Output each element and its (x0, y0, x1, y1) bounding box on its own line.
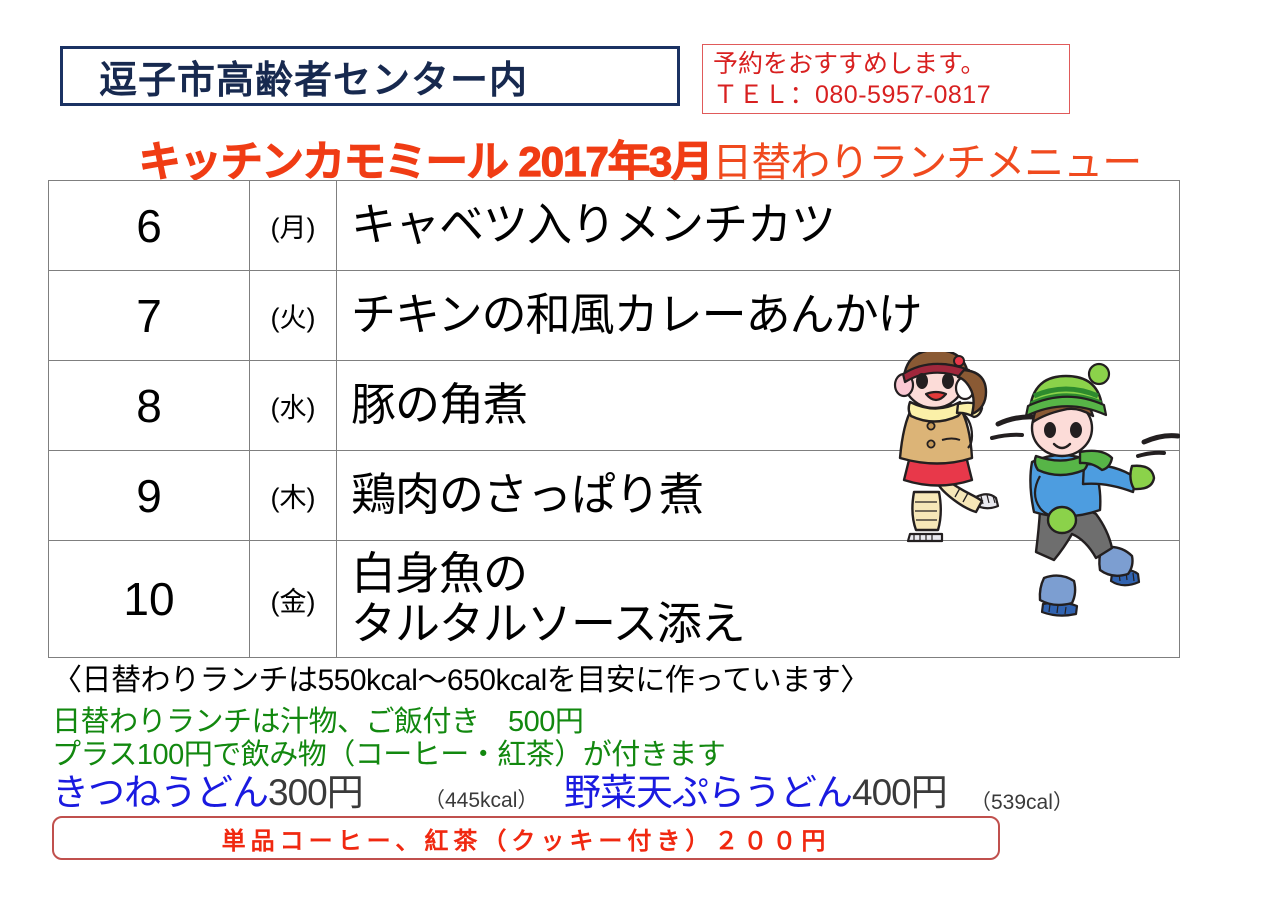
menu-text-line2: タルタルソース添え (351, 599, 1179, 649)
udon-item-1: きつねうどん300円 (52, 762, 363, 816)
cell-menu: チキンの和風カレーあんかけ (337, 271, 1180, 361)
table-row: 9 (木) 鶏肉のさっぱり煮 (49, 451, 1180, 541)
table-row: 10 (金) 白身魚の タルタルソース添え (49, 541, 1180, 658)
cell-menu: 鶏肉のさっぱり煮 (337, 451, 1180, 541)
cell-weekday: (火) (250, 271, 337, 361)
daily-lunch-menu-table: 6 (月) キャベツ入りメンチカツ 7 (火) チキンの和風カレーあんかけ 8 … (48, 180, 1180, 658)
calorie-range-note: 〈日替わりランチは550kcal〜650kcalを目安に作っています〉 (52, 655, 870, 699)
menu-text-line1: キャベツ入りメンチカツ (351, 200, 1179, 250)
menu-text-line1: 鶏肉のさっぱり煮 (351, 470, 1179, 520)
cell-menu: 豚の角煮 (337, 361, 1180, 451)
table-row: 6 (月) キャベツ入りメンチカツ (49, 181, 1180, 271)
udon-item-2-calories: （539cal） (970, 786, 1074, 816)
udon-item-1-calories: （445kcal） (424, 784, 538, 814)
udon-item-1-price: 300円 (268, 772, 363, 813)
cell-weekday: (月) (250, 181, 337, 271)
cell-date: 8 (49, 361, 250, 451)
table-row: 7 (火) チキンの和風カレーあんかけ (49, 271, 1180, 361)
menu-text-line1: 白身魚の (351, 549, 1179, 599)
cell-weekday: (金) (250, 541, 337, 658)
cell-weekday: (水) (250, 361, 337, 451)
udon-price-row: きつねうどん300円 （445kcal） 野菜天ぷらうどん400円 （539ca… (52, 762, 1112, 812)
reservation-info-box: 予約をおすすめします。 ＴＥＬ：080-5957-0817 (702, 44, 1070, 114)
cell-date: 9 (49, 451, 250, 541)
title-menu-label: 日替わりランチメニュー (712, 141, 1141, 185)
title-shop-month: キッチンカモミール 2017年3月 (139, 138, 712, 185)
cell-date: 10 (49, 541, 250, 658)
cell-date: 6 (49, 181, 250, 271)
udon-item-2-price: 400円 (852, 772, 947, 813)
cell-menu: キャベツ入りメンチカツ (337, 181, 1180, 271)
coffee-offer-box: 単品コーヒー、紅茶（クッキー付き）２００円 (52, 816, 1000, 860)
cell-menu: 白身魚の タルタルソース添え (337, 541, 1180, 658)
udon-item-2-name: 野菜天ぷらうどん (564, 772, 852, 813)
telephone-number: ＴＥＬ：080-5957-0817 (713, 80, 1069, 111)
menu-text-line1: チキンの和風カレーあんかけ (351, 290, 1179, 340)
udon-item-2: 野菜天ぷらうどん400円 (564, 762, 947, 816)
coffee-offer-text: 単品コーヒー、紅茶（クッキー付き）２００円 (222, 821, 831, 856)
cell-date: 7 (49, 271, 250, 361)
venue-header-box: 逗子市高齢者センター内 (60, 46, 680, 106)
reservation-recommend-text: 予約をおすすめします。 (713, 49, 1069, 80)
venue-name: 逗子市高齢者センター内 (99, 49, 528, 104)
table-row: 8 (水) 豚の角煮 (49, 361, 1180, 451)
menu-text-line1: 豚の角煮 (351, 380, 1179, 430)
udon-item-1-name: きつねうどん (52, 772, 268, 813)
cell-weekday: (木) (250, 451, 337, 541)
